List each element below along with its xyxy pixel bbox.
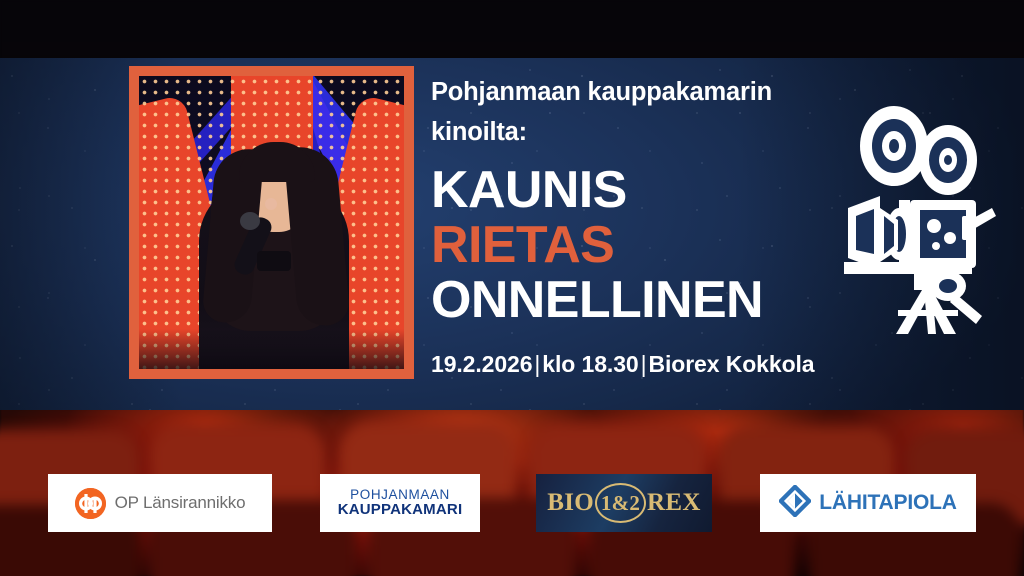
event-venue: Biorex Kokkola xyxy=(648,351,814,377)
kauppakamari-line-2: KAUPPAKAMARI xyxy=(338,502,463,519)
op-circle-logo-icon xyxy=(75,488,106,519)
kicker-text: Pohjanmaan kauppakamarin kinoilta: xyxy=(431,72,871,152)
sponsor-name-lahitapiola: LÄHITAPIOLA xyxy=(819,491,956,515)
title-line-1: KAUNIS xyxy=(431,163,763,218)
sponsor-name-op: OP Länsirannikko xyxy=(115,493,246,513)
performer-photo-frame xyxy=(129,66,414,379)
biorex-part-1: BIO xyxy=(547,489,594,517)
performer-photo xyxy=(139,76,404,369)
film-camera-icon xyxy=(836,104,996,336)
event-date: 19.2.2026 xyxy=(431,351,532,377)
detail-separator-2: | xyxy=(639,351,649,377)
sponsor-logo-pohjanmaan-kauppakamari[interactable]: POHJANMAAN KAUPPAKAMARI xyxy=(320,474,480,532)
event-title: KAUNIS RIETAS ONNELLINEN xyxy=(431,163,763,328)
event-time: klo 18.30 xyxy=(542,351,638,377)
detail-separator-1: | xyxy=(532,351,542,377)
kicker-line-2: kinoilta: xyxy=(431,112,871,152)
sponsor-logo-op-lansirannikko[interactable]: OP Länsirannikko xyxy=(48,474,272,532)
kicker-line-1: Pohjanmaan kauppakamarin xyxy=(431,72,871,112)
biorex-part-3: REX xyxy=(647,489,701,517)
sponsor-logo-biorex[interactable]: BIO 1&2 REX xyxy=(536,474,712,532)
poster-canvas: Pohjanmaan kauppakamarin kinoilta: KAUNI… xyxy=(0,0,1024,576)
title-line-2: RIETAS xyxy=(431,218,763,273)
sponsor-logos: OP Länsirannikko POHJANMAAN KAUPPAKAMARI… xyxy=(0,474,1024,534)
lahitapiola-diamond-icon xyxy=(779,485,811,522)
event-details: 19.2.2026|klo 18.30|Biorex Kokkola xyxy=(431,351,815,378)
title-line-3: ONNELLINEN xyxy=(431,273,763,328)
kauppakamari-line-1: POHJANMAAN xyxy=(338,487,463,502)
sponsor-logo-lahitapiola[interactable]: LÄHITAPIOLA xyxy=(760,474,976,532)
biorex-part-2: 1&2 xyxy=(595,483,646,523)
